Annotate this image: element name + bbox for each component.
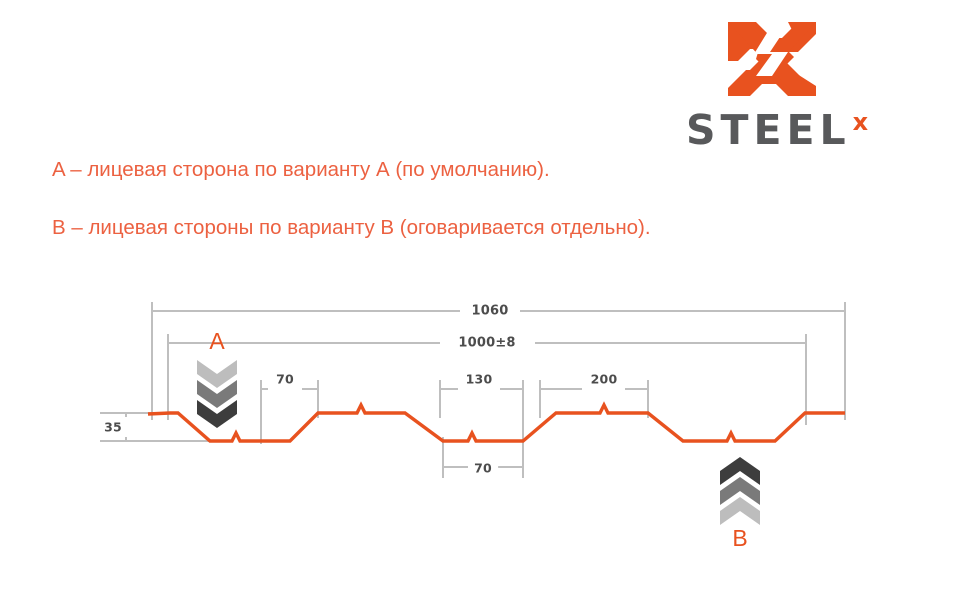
dim-label-1060: 1060: [466, 304, 515, 319]
side-b-marker-label: B: [732, 527, 747, 550]
profile-outline-path: [148, 405, 845, 441]
dim-label-1000: 1000±8: [452, 336, 521, 351]
dim-label-200: 200: [585, 372, 624, 387]
profile-svg: [0, 0, 970, 597]
dim-label-70-valley: 70: [468, 461, 498, 476]
dim-label-70-crest: 70: [270, 372, 300, 387]
side-b-marker: B: [717, 455, 763, 551]
drawing-page: STEEL x A – лицевая сторона по варианту …: [0, 0, 970, 597]
dim-label-130: 130: [460, 372, 499, 387]
chevron-down-icon-group: [194, 358, 240, 428]
side-a-marker: A: [194, 330, 240, 426]
chevron-down-icon-1: [197, 360, 237, 388]
profile-technical-drawing: 1060 1000±8 70 130 200 70 35 A B: [0, 0, 970, 597]
side-a-marker-label: A: [209, 330, 224, 353]
chevron-up-icon-group: [717, 455, 763, 525]
chevron-up-icon-3: [720, 497, 760, 525]
dim-label-35-height: 35: [98, 420, 128, 435]
